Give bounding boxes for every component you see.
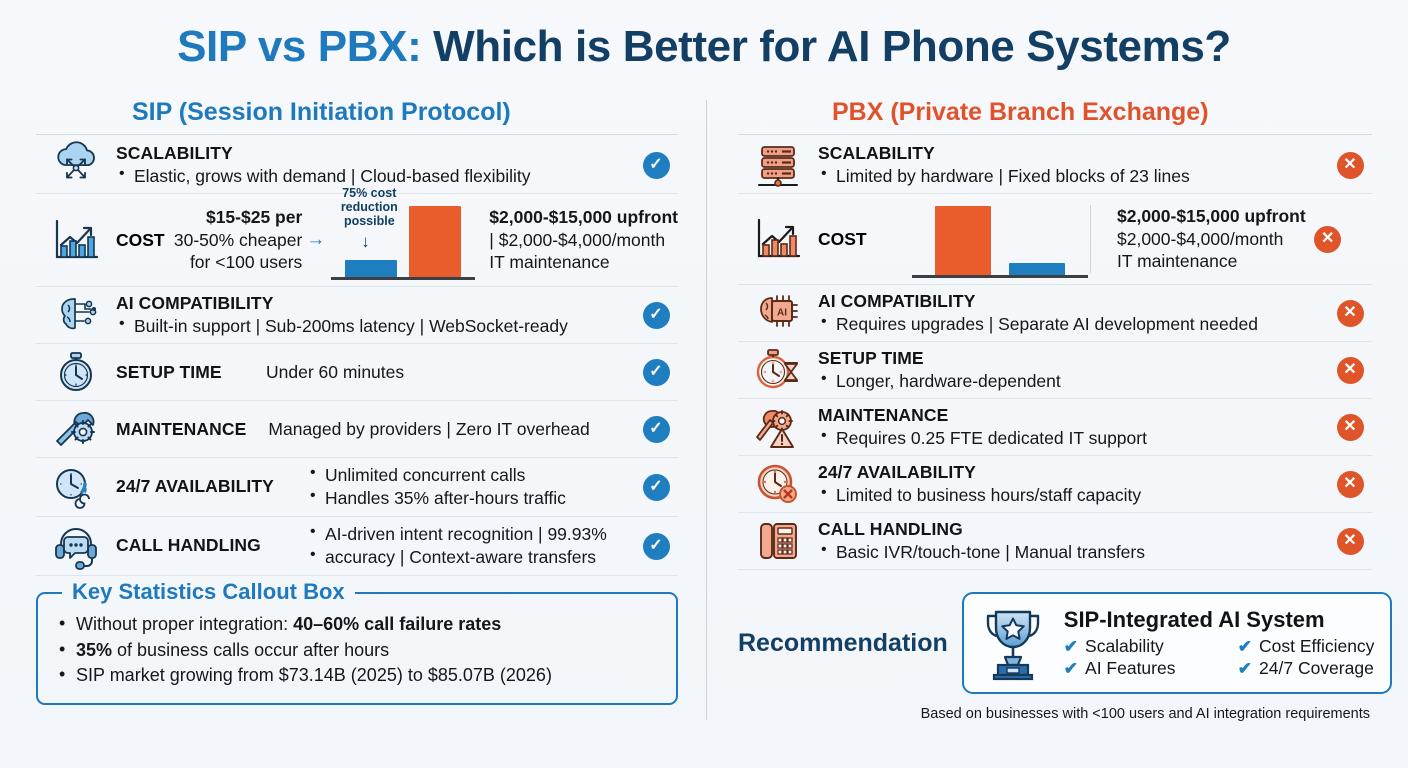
feature-bullets: Longer, hardware-dependent xyxy=(818,370,1328,393)
feature-bullets: Limited by hardware | Fixed blocks of 23… xyxy=(818,165,1328,188)
list-item: ✔Cost Efficiency xyxy=(1238,636,1375,657)
close-icon: ✕ xyxy=(1337,152,1364,179)
bar-sip xyxy=(345,260,397,278)
page-title: SIP vs PBX: Which is Better for AI Phone… xyxy=(0,0,1408,72)
feature-bullets: Elastic, grows with demand | Cloud-based… xyxy=(116,165,634,188)
list-item: Built-in support | Sub-200ms latency | W… xyxy=(116,315,634,338)
feature-bullets: Basic IVR/touch-tone | Manual transfers xyxy=(818,541,1328,564)
callout-pre: SIP market growing from $73.14B (2025) t… xyxy=(76,665,552,685)
close-icon: ✕ xyxy=(1337,300,1364,327)
row-body: SETUP TIME Longer, hardware-dependent xyxy=(818,348,1328,393)
row-verdict: ✕ xyxy=(1328,357,1372,384)
list-item: 35% of business calls occur after hours xyxy=(54,638,660,664)
cost-line: | $2,000-$4,000/month xyxy=(489,229,678,252)
list-item: Handles 35% after-hours traffic xyxy=(307,487,566,510)
close-icon: ✕ xyxy=(1337,528,1364,555)
row-verdict: ✕ xyxy=(1328,152,1372,179)
sip-cost-right-text: $2,000-$15,000 upfront | $2,000-$4,000/m… xyxy=(477,206,678,274)
feature-label: COST xyxy=(116,230,165,251)
feature-bullets: Requires upgrades | Separate AI developm… xyxy=(818,313,1328,336)
row-body: SCALABILITY Limited by hardware | Fixed … xyxy=(818,143,1328,188)
table-row: AI AI COMPATIBILITY Requires upgrades | … xyxy=(738,285,1372,342)
table-row: CALL HANDLING Basic IVR/touch-tone | Man… xyxy=(738,513,1372,570)
cost-row-body: COST $2,000-$15,000 upfront $2,000-$4,00… xyxy=(818,198,1372,280)
list-item: Elastic, grows with demand | Cloud-based… xyxy=(116,165,634,188)
row-verdict: ✕ xyxy=(1328,528,1372,555)
list-item: Requires upgrades | Separate AI developm… xyxy=(818,313,1328,336)
trophy-icon xyxy=(976,604,1050,682)
feature-label: CALL HANDLING xyxy=(818,519,1328,541)
callout-pre: Without proper integration: xyxy=(76,614,293,634)
desk-phone-icon xyxy=(738,517,818,565)
row-verdict: ✕ xyxy=(1306,226,1350,253)
row-body: AI COMPATIBILITY Requires upgrades | Sep… xyxy=(818,291,1328,336)
headset-chat-icon xyxy=(36,521,116,571)
row-verdict: ✓ xyxy=(634,302,678,329)
feature-label: SETUP TIME xyxy=(116,362,244,384)
table-row: COST $15-$25 per 30-50% cheaper for <100… xyxy=(36,194,678,287)
row-body: AI COMPATIBILITY Built-in support | Sub-… xyxy=(116,293,634,338)
list-item: Limited by hardware | Fixed blocks of 23… xyxy=(818,165,1328,188)
cost-line: $2,000-$15,000 upfront xyxy=(489,206,678,229)
clock-x-icon xyxy=(738,460,818,508)
close-icon: ✕ xyxy=(1337,471,1364,498)
cost-line: $15-$25 per xyxy=(165,206,303,229)
feature-bullets: Limited to business hours/staff capacity xyxy=(818,484,1328,507)
chart-axis xyxy=(331,277,475,280)
check-icon: ✓ xyxy=(643,152,670,179)
wrench-gear-icon xyxy=(36,405,116,453)
row-body: 24/7 AVAILABILITY Limited to business ho… xyxy=(818,462,1328,507)
callout-list: Without proper integration: 40–60% call … xyxy=(54,612,660,689)
table-row: MAINTENANCE Requires 0.25 FTE dedicated … xyxy=(738,399,1372,456)
footnote: Based on businesses with <100 users and … xyxy=(738,706,1372,722)
callout-bold: 40–60% call failure rates xyxy=(293,614,501,634)
list-item: Longer, hardware-dependent xyxy=(818,370,1328,393)
row-body: SCALABILITY Elastic, grows with demand |… xyxy=(116,143,634,188)
cost-line: for <100 users xyxy=(165,251,303,274)
pbx-column: PBX (Private Branch Exchange) xyxy=(706,98,1408,738)
bar-chart-up-orange-icon xyxy=(738,214,818,264)
feature-label: MAINTENANCE xyxy=(116,419,246,441)
list-item: Unlimited concurrent calls xyxy=(307,464,566,487)
feature-bullets: Requires 0.25 FTE dedicated IT support xyxy=(818,427,1328,450)
list-item: AI-driven intent recognition | 99.93% xyxy=(307,523,607,546)
feature-bullets: Unlimited concurrent calls Handles 35% a… xyxy=(307,464,566,510)
list-item: ✔AI Features xyxy=(1064,658,1232,679)
list-item: Basic IVR/touch-tone | Manual transfers xyxy=(818,541,1328,564)
callout-bold: 35% xyxy=(76,640,112,660)
chart-axis xyxy=(912,275,1088,278)
row-verdict: ✓ xyxy=(634,474,678,501)
list-item: Limited to business hours/staff capacity xyxy=(818,484,1328,507)
check-icon: ✓ xyxy=(643,359,670,386)
benefit-label: Scalability xyxy=(1085,636,1164,657)
recommendation-title: SIP-Integrated AI System xyxy=(1064,607,1375,633)
check-icon: ✔ xyxy=(1064,637,1078,657)
table-row: MAINTENANCE Managed by providers | Zero … xyxy=(36,401,678,458)
row-body: SETUP TIME Under 60 minutes xyxy=(116,361,634,384)
benefit-label: 24/7 Coverage xyxy=(1259,658,1374,679)
recommendation-content: SIP-Integrated AI System ✔Scalability ✔C… xyxy=(1064,607,1375,679)
check-icon: ✓ xyxy=(643,533,670,560)
table-row: SETUP TIME Longer, hardware-dependent ✕ xyxy=(738,342,1372,399)
bar-pbx xyxy=(935,206,991,276)
clock-infinity-icon xyxy=(36,462,116,512)
arrow-right-icon: → xyxy=(302,229,329,251)
close-icon: ✕ xyxy=(1314,226,1341,253)
comparison-columns: SIP (Session Initiation Protocol) xyxy=(0,98,1408,738)
close-icon: ✕ xyxy=(1337,357,1364,384)
cost-line: IT maintenance xyxy=(489,251,678,274)
recommendation-section: Recommendation xyxy=(738,592,1372,694)
recommendation-benefits: ✔Scalability ✔Cost Efficiency ✔AI Featur… xyxy=(1064,636,1375,679)
callout-title: Key Statistics Callout Box xyxy=(62,579,355,605)
row-verdict: ✓ xyxy=(634,359,678,386)
row-verdict: ✕ xyxy=(1328,300,1372,327)
check-icon: ✔ xyxy=(1064,659,1078,679)
sip-heading: SIP (Session Initiation Protocol) xyxy=(36,98,678,134)
feature-value: Managed by providers | Zero IT overhead xyxy=(268,418,589,440)
cost-line: $2,000-$4,000/month xyxy=(1117,228,1306,251)
pbx-cost-bar-chart xyxy=(910,198,1090,280)
check-icon: ✓ xyxy=(643,474,670,501)
row-verdict: ✓ xyxy=(634,152,678,179)
pbx-heading: PBX (Private Branch Exchange) xyxy=(738,98,1372,134)
chart-annotation: 75% cost reduction possible xyxy=(325,186,413,228)
feature-label: CALL HANDLING xyxy=(116,535,291,557)
row-body: CALL HANDLING AI-driven intent recogniti… xyxy=(116,523,634,569)
feature-label: AI COMPATIBILITY xyxy=(818,291,1328,313)
cost-row-body: COST $15-$25 per 30-50% cheaper for <100… xyxy=(116,198,678,282)
list-item: Requires 0.25 FTE dedicated IT support xyxy=(818,427,1328,450)
bar-chart-up-icon xyxy=(36,215,116,265)
feature-label: 24/7 AVAILABILITY xyxy=(818,462,1328,484)
pbx-heading-rule xyxy=(738,134,1372,135)
cost-line: 30-50% cheaper xyxy=(165,229,303,252)
feature-bullets: AI-driven intent recognition | 99.93% ac… xyxy=(307,523,607,569)
infographic-page: SIP vs PBX: Which is Better for AI Phone… xyxy=(0,0,1408,768)
wrench-warning-icon xyxy=(738,403,818,451)
table-row: 24/7 AVAILABILITY Limited to business ho… xyxy=(738,456,1372,513)
sip-cost-text: $15-$25 per 30-50% cheaper for <100 user… xyxy=(165,206,303,274)
list-item: accuracy | Context-aware transfers xyxy=(307,546,607,569)
feature-bullets: Built-in support | Sub-200ms latency | W… xyxy=(116,315,634,338)
check-icon: ✔ xyxy=(1238,659,1252,679)
brain-circuit-icon xyxy=(36,291,116,339)
pbx-cost-text: $2,000-$15,000 upfront $2,000-$4,000/mon… xyxy=(1090,205,1306,273)
row-body: MAINTENANCE Managed by providers | Zero … xyxy=(116,418,634,441)
title-accent: SIP vs PBX: xyxy=(177,22,421,71)
check-icon: ✓ xyxy=(643,302,670,329)
recommendation-label: Recommendation xyxy=(738,629,948,658)
feature-label: SETUP TIME xyxy=(818,348,1328,370)
feature-label: AI COMPATIBILITY xyxy=(116,293,634,315)
svg-text:AI: AI xyxy=(777,308,787,319)
row-body: MAINTENANCE Requires 0.25 FTE dedicated … xyxy=(818,405,1328,450)
feature-value: Under 60 minutes xyxy=(266,361,404,383)
feature-label: 24/7 AVAILABILITY xyxy=(116,476,291,498)
sip-feature-rows: SCALABILITY Elastic, grows with demand |… xyxy=(36,137,678,576)
close-icon: ✕ xyxy=(1337,414,1364,441)
bar-pbx xyxy=(409,206,461,278)
title-main: Which is Better for AI Phone Systems? xyxy=(421,22,1231,71)
pbx-feature-rows: SCALABILITY Limited by hardware | Fixed … xyxy=(738,137,1372,570)
table-row: COST $2,000-$15,000 upfront $2,000-$4,00… xyxy=(738,194,1372,285)
table-row: CALL HANDLING AI-driven intent recogniti… xyxy=(36,517,678,576)
stopwatch-icon xyxy=(36,348,116,396)
cost-line: $2,000-$15,000 upfront xyxy=(1117,205,1306,228)
list-item: SIP market growing from $73.14B (2025) t… xyxy=(54,663,660,689)
cloud-arrows-icon xyxy=(36,141,116,189)
row-body: 24/7 AVAILABILITY Unlimited concurrent c… xyxy=(116,464,634,510)
table-row: SETUP TIME Under 60 minutes ✓ xyxy=(36,344,678,401)
row-verdict: ✓ xyxy=(634,416,678,443)
stopwatch-hourglass-icon xyxy=(738,346,818,394)
feature-label: SCALABILITY xyxy=(818,143,1328,165)
table-row: 24/7 AVAILABILITY Unlimited concurrent c… xyxy=(36,458,678,517)
recommendation-box: SIP-Integrated AI System ✔Scalability ✔C… xyxy=(962,592,1393,694)
benefit-label: AI Features xyxy=(1085,658,1175,679)
list-item: ✔Scalability xyxy=(1064,636,1232,657)
brain-chip-icon: AI xyxy=(738,289,818,337)
check-icon: ✔ xyxy=(1238,637,1252,657)
table-row: AI COMPATIBILITY Built-in support | Sub-… xyxy=(36,287,678,344)
row-verdict: ✕ xyxy=(1328,414,1372,441)
sip-cost-bar-chart: 75% cost reduction possible ↓ xyxy=(329,198,477,282)
feature-label: COST xyxy=(818,229,910,250)
table-row: SCALABILITY Limited by hardware | Fixed … xyxy=(738,137,1372,194)
server-stack-icon xyxy=(738,141,818,189)
callout-post: of business calls occur after hours xyxy=(112,640,389,660)
row-verdict: ✓ xyxy=(634,533,678,560)
check-icon: ✓ xyxy=(643,416,670,443)
benefit-label: Cost Efficiency xyxy=(1259,636,1374,657)
arrow-down-icon: ↓ xyxy=(361,232,370,252)
row-verdict: ✕ xyxy=(1328,471,1372,498)
sip-column: SIP (Session Initiation Protocol) xyxy=(0,98,706,738)
row-body: CALL HANDLING Basic IVR/touch-tone | Man… xyxy=(818,519,1328,564)
sip-heading-rule xyxy=(36,134,678,135)
cost-line: IT maintenance xyxy=(1117,250,1306,273)
feature-label: MAINTENANCE xyxy=(818,405,1328,427)
feature-label: SCALABILITY xyxy=(116,143,634,165)
list-item: Without proper integration: 40–60% call … xyxy=(54,612,660,638)
list-item: ✔24/7 Coverage xyxy=(1238,658,1375,679)
key-statistics-callout: Key Statistics Callout Box Without prope… xyxy=(36,592,678,705)
